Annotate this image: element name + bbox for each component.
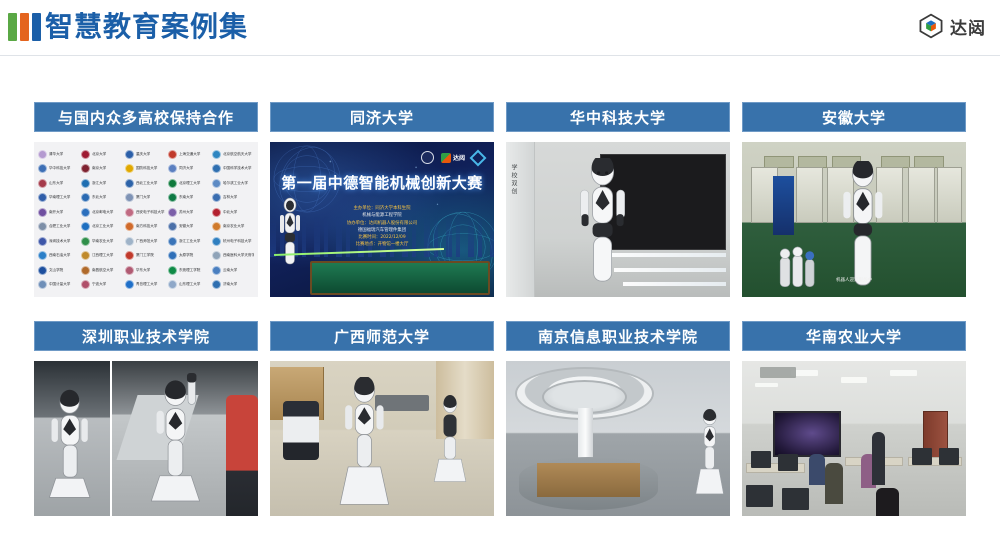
card-title-nanjing-vocational-college: 南京信息职业技术学院 [506, 321, 730, 351]
university-logo-item: 安徽大学 [168, 220, 210, 235]
university-seal-icon [168, 251, 177, 260]
university-seal-icon [38, 266, 47, 275]
monitor-4 [939, 448, 959, 465]
teacher [872, 432, 885, 485]
university-seal-icon [125, 251, 134, 260]
card-title-anhui-university: 安徽大学 [742, 102, 966, 132]
case-card-tongji-university[interactable]: 同济大学 [270, 102, 494, 297]
university-seal-icon [212, 208, 221, 217]
university-name: 深圳技术大学 [49, 239, 70, 243]
university-name: 国防科技大学 [136, 167, 157, 171]
university-name: 北京大学 [92, 152, 106, 156]
university-name: 华东大学 [136, 268, 150, 272]
university-seal-icon [125, 237, 134, 246]
futuristic-hall-photo [506, 361, 730, 516]
person-in-red-shirt [226, 395, 258, 516]
card-media-shenzhen-polytechnic [34, 361, 258, 516]
poster-line-4: 德国福瑞汽车管理件集团 [270, 227, 494, 234]
poster-line-3: 协办单位：达闼机器人股份有限公司 [270, 220, 494, 227]
student-1 [809, 454, 825, 485]
university-logo-item: 上海交通大学 [168, 147, 210, 162]
university-name: 太原学院 [179, 254, 193, 258]
ceiling-light-2 [841, 377, 868, 383]
university-logo-item: 太原学院 [168, 249, 210, 264]
university-logo-item: 厦门大学 [125, 191, 167, 206]
university-seal-icon [212, 280, 221, 289]
university-logo-item: 西北工业大学 [125, 176, 167, 191]
monitor-2 [778, 454, 798, 471]
university-seal-icon [81, 237, 90, 246]
tongji-seal-icon [421, 151, 434, 164]
case-card-guangxi-normal-university[interactable]: 广西师范大学 [270, 321, 494, 516]
card-title-huazhong-university: 华中科技大学 [506, 102, 730, 132]
university-seal-icon [38, 193, 47, 202]
poster-line-5: 比赛时间：2022/12/09 [270, 234, 494, 241]
university-logo-item: 北京理工大学 [168, 176, 210, 191]
university-seal-icon [168, 222, 177, 231]
humanoid-robot-figure [569, 158, 636, 288]
poster-details: 主办单位：同济大学本科生院 机械与能源工程学院 协办单位：达闼机器人股份有限公司… [270, 205, 494, 249]
university-logo-item: 江西理工大学 [81, 249, 123, 264]
wooden-counter [537, 463, 640, 497]
hall-robot-figure [694, 404, 725, 506]
case-card-south-china-agricultural-university[interactable]: 华南农业大学 [742, 321, 966, 516]
university-name: 北京航空航天大学 [223, 152, 251, 156]
university-seal-icon [168, 179, 177, 188]
corporate-logo: 达闼 [918, 13, 986, 39]
university-name: 重庆大学 [136, 152, 150, 156]
dual-robot-photo [34, 361, 258, 516]
university-logo-item: 南方科技大学 [125, 220, 167, 235]
card-title-shenzhen-polytechnic: 深圳职业技术学院 [34, 321, 258, 351]
card-media-partner-universities: 清华大学北京大学重庆大学上海交通大学北京航空航天大学华中科技大学南京大学国防科技… [34, 142, 258, 297]
card-title-tongji-university: 同济大学 [270, 102, 494, 132]
university-logo-item: 合肥工业大学 [38, 220, 80, 235]
university-seal-icon [81, 150, 90, 159]
cabinet-2 [796, 167, 823, 223]
small-robots-group [773, 244, 822, 291]
cabinet-6 [937, 167, 962, 223]
page-title: 智慧教育案例集 [45, 7, 248, 47]
corridor-robot-photo: 学校双创 [506, 142, 730, 297]
university-name: 中国科学技术大学 [223, 167, 251, 171]
dual-photo-right-panel [112, 361, 258, 516]
card-media-guangxi-normal-university [270, 361, 494, 516]
university-name: 上海交通大学 [179, 152, 200, 156]
ceiling-light-4 [755, 383, 777, 388]
university-name: 西北工业大学 [136, 181, 157, 185]
university-seal-icon [38, 208, 47, 217]
student-4 [876, 488, 898, 516]
university-name: 杭州电子科技大学 [223, 239, 251, 243]
lab-banner [773, 176, 793, 235]
university-seal-icon [168, 150, 177, 159]
pool-table [310, 261, 489, 295]
case-card-huazhong-university[interactable]: 华中科技大学 学校双创 [506, 102, 730, 297]
university-seal-icon [125, 193, 134, 202]
university-seal-icon [125, 280, 134, 289]
university-logo-item: 深圳技术大学 [38, 234, 80, 249]
university-name: 济南大学 [223, 283, 237, 287]
university-name: 北京邮电大学 [92, 210, 113, 214]
university-logo-item: 国防科技大学 [125, 162, 167, 177]
foreground-robot [333, 377, 396, 513]
card-title-south-china-agricultural-university: 华南农业大学 [742, 321, 966, 351]
university-logo-item: 南京农业大学 [212, 220, 254, 235]
university-logo-item: 广西师范大学 [125, 234, 167, 249]
poster-line-6: 比赛地点：开物馆一楼大厅 [270, 241, 494, 248]
lab-photo-caption: 机器人迎宾服务中 [742, 277, 966, 283]
university-name: 西南医科大学天府学院 [223, 254, 254, 258]
university-logo-item: 宁波大学 [81, 278, 123, 293]
university-logo-item: 南开大学 [38, 205, 80, 220]
university-name: 青岛理工大学 [136, 283, 157, 287]
university-logo-item: 重庆大学 [125, 147, 167, 162]
university-name: 苏州大学 [179, 210, 193, 214]
university-seal-icon [81, 251, 90, 260]
classroom-display-screen [773, 411, 840, 458]
university-logo-item: 济南大学 [212, 278, 254, 293]
university-logo-item: 东北大学 [81, 191, 123, 206]
case-grid: 与国内众多高校保持合作 清华大学北京大学重庆大学上海交通大学北京航空航天大学华中… [34, 102, 966, 516]
university-name: 西南石油大学 [49, 254, 70, 258]
university-name: 厦门大学 [136, 196, 150, 200]
university-logo-item: 浙江大学 [81, 176, 123, 191]
university-name: 南京大学 [92, 167, 106, 171]
case-card-shenzhen-polytechnic[interactable]: 深圳职业技术学院 [34, 321, 258, 516]
university-name: 华南农业大学 [92, 239, 113, 243]
university-seal-icon [212, 193, 221, 202]
brand-bar-green-icon [8, 13, 17, 41]
university-name: 南方科技大学 [136, 225, 157, 229]
university-name: 南昌航空大学 [92, 268, 113, 272]
poster-partner-logos: 达闼 [421, 151, 484, 164]
university-seal-icon [125, 179, 134, 188]
university-name: 浙江大学 [92, 181, 106, 185]
university-logo-item: 北京航空航天大学 [212, 147, 254, 162]
university-logo-item: 云南大学 [212, 263, 254, 278]
university-logo-item: 青岛理工大学 [125, 278, 167, 293]
wheeled-robot-left [43, 389, 96, 510]
case-card-anhui-university[interactable]: 安徽大学 [742, 102, 966, 297]
university-name: 同济大学 [179, 167, 193, 171]
card-media-tongji-university: 达闼 第一届中德智能机械创新大赛 主办单位：同济大学本科生院 机械与能源工程学院… [270, 142, 494, 297]
university-name: 山东大学 [49, 181, 63, 185]
university-logo-item: 西南医科大学天府学院 [212, 249, 254, 264]
university-name: 广西师范大学 [136, 239, 157, 243]
university-logo-item: 北京邮电大学 [81, 205, 123, 220]
university-name: 安徽大学 [179, 225, 193, 229]
university-seal-icon [212, 251, 221, 260]
card-title-partner-universities: 与国内众多高校保持合作 [34, 102, 258, 132]
university-name: 东莞理工学院 [179, 268, 200, 272]
dataa-cube-icon [441, 153, 451, 163]
card-title-guangxi-normal-university: 广西师范大学 [270, 321, 494, 351]
university-name: 山东理工大学 [179, 283, 200, 287]
university-seal-icon [212, 222, 221, 231]
university-logo-item: 南昌航空大学 [81, 263, 123, 278]
university-name: 北京工业大学 [92, 225, 113, 229]
university-name: 江西理工大学 [92, 254, 113, 258]
university-seal-icon [212, 179, 221, 188]
wheeled-robot-right [144, 373, 211, 509]
case-card-partner-universities[interactable]: 与国内众多高校保持合作 清华大学北京大学重庆大学上海交通大学北京航空航天大学华中… [34, 102, 258, 297]
university-seal-icon [38, 280, 47, 289]
university-logo-item: 厦门工学院 [125, 249, 167, 264]
university-seal-icon [168, 208, 177, 217]
competition-poster-image: 达闼 第一届中德智能机械创新大赛 主办单位：同济大学本科生院 机械与能源工程学院… [270, 142, 494, 297]
dataa-logo-text: 达闼 [453, 153, 465, 162]
page-header: 智慧教育案例集 达闼 [0, 0, 1000, 56]
university-seal-icon [125, 150, 134, 159]
university-name: 东北大学 [92, 196, 106, 200]
university-name: 厦门工学院 [136, 254, 154, 258]
university-seal-icon [81, 164, 90, 173]
university-name: 哈尔滨工业大学 [223, 181, 248, 185]
background-robot [431, 395, 469, 488]
university-seal-icon [125, 208, 134, 217]
case-gallery: 与国内众多高校保持合作 清华大学北京大学重庆大学上海交通大学北京航空航天大学华中… [0, 56, 1000, 538]
dataa-logo-icon: 达闼 [441, 153, 465, 163]
university-seal-icon [168, 237, 177, 246]
university-logo-item: 中国科学技术大学 [212, 162, 254, 177]
university-logo-item: 华东大学 [125, 263, 167, 278]
poster-line-2: 机械与能源工程学院 [270, 212, 494, 219]
university-seal-icon [38, 222, 47, 231]
university-seal-icon [212, 164, 221, 173]
partner-diamond-icon [470, 149, 487, 166]
university-logo-item: 华南理工大学 [38, 191, 80, 206]
university-name: 浙江工业大学 [179, 239, 200, 243]
university-logo-item: 西南石油大学 [38, 249, 80, 264]
case-card-nanjing-vocational-college[interactable]: 南京信息职业技术学院 [506, 321, 730, 516]
ac-vent [760, 367, 796, 378]
university-name: 合肥工业大学 [49, 225, 70, 229]
university-name: 云南大学 [223, 268, 237, 272]
classroom-robots-photo [270, 361, 494, 516]
university-seal-icon [38, 150, 47, 159]
university-seal-icon [81, 222, 90, 231]
hexagon-cube-icon [918, 13, 944, 39]
university-logo-item: 东莞理工学院 [168, 263, 210, 278]
university-seal-icon [168, 280, 177, 289]
university-seal-icon [81, 280, 90, 289]
corridor-wall-text: 学校双创 [509, 164, 518, 196]
university-seal-icon [38, 251, 47, 260]
university-name: 南京农业大学 [223, 225, 244, 229]
corporate-name: 达闼 [950, 14, 986, 39]
university-name: 南开大学 [49, 210, 63, 214]
university-logo-item: 清华大学 [38, 147, 80, 162]
brand-bar-orange-icon [20, 13, 29, 41]
university-logo-item: 吉林大学 [212, 191, 254, 206]
university-seal-icon [125, 222, 134, 231]
seated-person [283, 401, 319, 460]
card-media-south-china-agricultural-university [742, 361, 966, 516]
lab-robot-photo: 机器人迎宾服务中 [742, 142, 966, 297]
university-name: 东南大学 [179, 196, 193, 200]
dual-photo-left-panel [34, 361, 110, 516]
university-name: 吉林大学 [223, 196, 237, 200]
university-name: 文山学院 [49, 268, 63, 272]
university-logo-item: 中国计量大学 [38, 278, 80, 293]
university-name: 华南理工大学 [49, 196, 70, 200]
university-logo-item: 同济大学 [168, 162, 210, 177]
brand-bars-logo [8, 13, 41, 41]
monitor-5 [746, 485, 773, 507]
brand-bar-blue-icon [32, 13, 41, 41]
university-seal-icon [212, 150, 221, 159]
university-seal-icon [81, 266, 90, 275]
university-seal-icon [38, 179, 47, 188]
university-logo-item: 北京工业大学 [81, 220, 123, 235]
university-name: 中北大学 [223, 210, 237, 214]
university-seal-icon [38, 164, 47, 173]
university-seal-icon [168, 164, 177, 173]
student-2 [825, 463, 843, 503]
lab-humanoid-robot-figure [836, 161, 890, 294]
university-logo-item: 文山学院 [38, 263, 80, 278]
university-seal-icon [81, 193, 90, 202]
poster-robot-figure [277, 197, 303, 269]
university-seal-icon [212, 237, 221, 246]
light-strip-3 [623, 282, 726, 286]
cabinet-5 [908, 167, 935, 223]
university-logo-item: 浙江工业大学 [168, 234, 210, 249]
university-seal-icon [168, 266, 177, 275]
monitor-1 [751, 451, 771, 468]
university-logo-item: 东南大学 [168, 191, 210, 206]
card-media-anhui-university: 机器人迎宾服务中 [742, 142, 966, 297]
university-seal-icon [38, 237, 47, 246]
card-media-huazhong-university: 学校双创 [506, 142, 730, 297]
university-logo-item: 中北大学 [212, 205, 254, 220]
poster-title: 第一届中德智能机械创新大赛 [270, 172, 494, 193]
university-logo-item: 山东理工大学 [168, 278, 210, 293]
university-name: 西安电子科技大学 [136, 210, 164, 214]
university-name: 北京理工大学 [179, 181, 200, 185]
university-name: 宁波大学 [92, 283, 106, 287]
university-seal-icon [81, 179, 90, 188]
university-logo-item: 南京大学 [81, 162, 123, 177]
university-logo-item: 山东大学 [38, 176, 80, 191]
university-logo-item: 华中科技大学 [38, 162, 80, 177]
ceiling-light-3 [890, 370, 917, 376]
university-logo-item: 苏州大学 [168, 205, 210, 220]
university-seal-icon [125, 266, 134, 275]
monitor-6 [782, 488, 809, 510]
university-name: 华中科技大学 [49, 167, 70, 171]
poster-line-1: 主办单位：同济大学本科生院 [270, 205, 494, 212]
university-name: 清华大学 [49, 152, 63, 156]
university-name: 中国计量大学 [49, 283, 70, 287]
university-seal-icon [168, 193, 177, 202]
computer-classroom-photo [742, 361, 966, 516]
university-seal-icon [125, 164, 134, 173]
university-logo-item: 杭州电子科技大学 [212, 234, 254, 249]
monitor-3 [912, 448, 932, 465]
university-logo-item: 西安电子科技大学 [125, 205, 167, 220]
university-seal-icon [212, 266, 221, 275]
university-logo-wall: 清华大学北京大学重庆大学上海交通大学北京航空航天大学华中科技大学南京大学国防科技… [34, 142, 258, 297]
university-logo-item: 北京大学 [81, 147, 123, 162]
university-logo-item: 哈尔滨工业大学 [212, 176, 254, 191]
university-logo-item: 华南农业大学 [81, 234, 123, 249]
card-media-nanjing-vocational-college [506, 361, 730, 516]
university-seal-icon [81, 208, 90, 217]
